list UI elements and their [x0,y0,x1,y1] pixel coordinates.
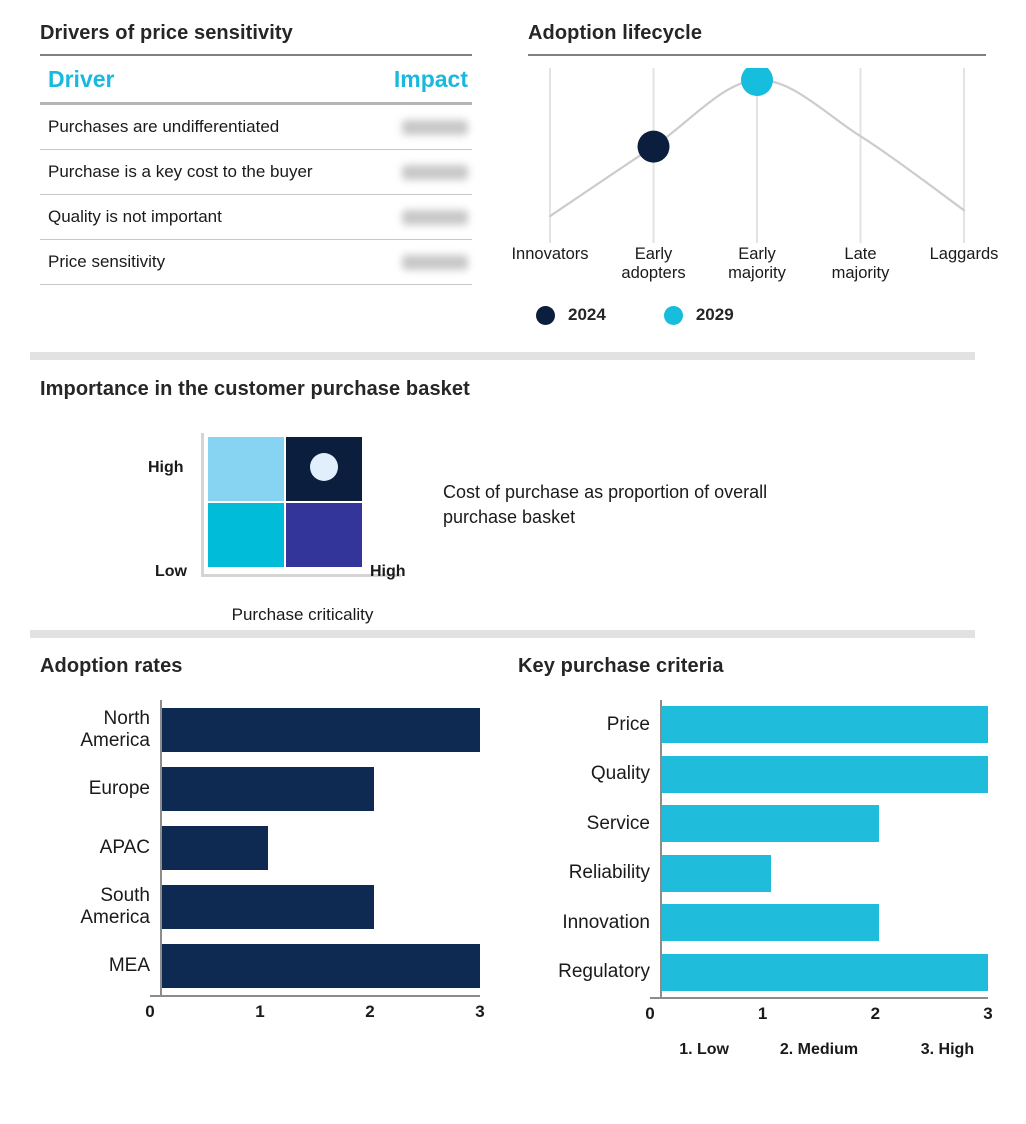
adoption-rates-panel: Adoption rates North AmericaEuropeAPACSo… [40,655,480,1023]
lifecycle-marker-2024[interactable] [638,131,670,163]
table-row: Purchase is a key cost to the buyer [40,150,472,195]
bar-track [160,936,480,995]
bar-track [160,759,480,818]
table-row: Quality is not important [40,195,472,240]
bar-row: Quality [518,750,988,800]
legend-item[interactable]: 2029 [664,305,734,325]
bar-track [660,898,988,948]
axis-tick-label: 0 [145,1002,154,1022]
driver-cell: Purchase is a key cost to the buyer [40,150,256,195]
lifecycle-category-label: Early adopters [621,245,685,283]
lifecycle-category-label: Early majority [728,245,786,283]
criteria-panel-title: Key purchase criteria [518,655,988,678]
axis-tick-label: 1 [758,1004,767,1024]
impact-cell [256,195,472,240]
lifecycle-panel-title: Adoption lifecycle [528,22,986,45]
driver-cell: Purchases are undifferentiated [40,104,256,150]
key-purchase-criteria-panel: Key purchase criteria PriceQualityServic… [518,655,988,1065]
impact-cell [256,104,472,150]
adoption-lifecycle-panel: Adoption lifecycle InnovatorsEarly adopt… [528,22,986,325]
criteria-bar-rows: PriceQualityServiceReliabilityInnovation… [518,700,988,997]
matrix-position-bubble [310,453,338,481]
redacted-value [402,255,468,270]
bar-category-label: APAC [40,837,160,859]
axis-tick-label: 3 [983,1004,992,1024]
column-header-impact: Impact [256,56,472,104]
bar-row: Regulatory [518,948,988,998]
bar-row: APAC [40,818,480,877]
driver-cell: Quality is not important [40,195,256,240]
lifecycle-title-rule [528,54,986,56]
scale-legend-item: 2. Medium [780,1041,858,1059]
bar[interactable] [162,944,480,988]
redacted-value [402,165,468,180]
bar-category-label: Regulatory [518,961,660,983]
legend-dot-icon [536,306,555,325]
adoption-panel-title: Adoption rates [40,655,480,678]
lifecycle-curve-chart [528,68,986,243]
bar-track [660,700,988,750]
bar[interactable] [662,706,988,743]
driver-cell: Price sensitivity [40,240,256,285]
bar-track [160,700,480,759]
matrix-plot-area: High Low High Purchase criticality Cost … [40,423,985,638]
bar-track [660,849,988,899]
redacted-value [402,120,468,135]
lifecycle-svg [528,68,986,243]
axis-tick-label: 0 [645,1004,654,1024]
matrix-quadrants [208,437,362,567]
bar-track [660,750,988,800]
table-row: Price sensitivity [40,240,472,285]
column-header-driver: Driver [40,56,256,104]
lifecycle-legend: 20242029 [528,305,986,325]
lifecycle-category-label: Innovators [511,245,588,264]
criteria-scale-legend: 1. Low2. Medium3. High [650,1041,988,1065]
bar-row: Service [518,799,988,849]
matrix-note-text: Cost of purchase as proportion of overal… [443,480,793,530]
quadrant-bottom-left [208,503,284,567]
bar-row: North America [40,700,480,759]
bar-category-label: South America [40,885,160,929]
criteria-chart-body: PriceQualityServiceReliabilityInnovation… [518,700,988,1065]
redacted-value [402,210,468,225]
matrix-panel-title: Importance in the customer purchase bask… [40,378,985,401]
matrix-y-low-label: Low [155,563,187,581]
bar-category-label: Innovation [518,912,660,934]
matrix-x-axis-title: Purchase criticality [200,605,405,625]
bar[interactable] [662,954,988,991]
quadrant-top-left [208,437,284,501]
drivers-panel-title: Drivers of price sensitivity [40,22,472,45]
bar-row: Innovation [518,898,988,948]
bar-row: Europe [40,759,480,818]
bar[interactable] [162,826,268,870]
matrix-y-axis-line [201,433,204,577]
drivers-of-price-sensitivity-panel: Drivers of price sensitivity Driver Impa… [40,22,472,285]
bar-category-label: Europe [40,778,160,800]
section-divider-2 [30,630,975,638]
bar-row: Reliability [518,849,988,899]
bar-track [660,799,988,849]
adoption-x-tick-labels: 0123 [150,997,480,1023]
matrix-x-high-label: High [370,563,406,581]
drivers-table-header-row: Driver Impact [40,56,472,104]
drivers-table: Driver Impact Purchases are undifferenti… [40,56,472,285]
axis-tick-label: 3 [475,1002,484,1022]
lifecycle-markers [638,68,774,163]
matrix-y-high-label: High [148,459,184,477]
legend-label: 2024 [568,305,606,325]
bar-category-label: Price [518,714,660,736]
bar-row: Price [518,700,988,750]
adoption-chart-body: North AmericaEuropeAPACSouth AmericaMEA … [40,700,480,1023]
lifecycle-marker-2029[interactable] [741,68,773,96]
scale-legend-item: 1. Low [679,1041,729,1059]
bar[interactable] [162,885,374,929]
legend-dot-icon [664,306,683,325]
bar[interactable] [162,767,374,811]
adoption-bar-rows: North AmericaEuropeAPACSouth AmericaMEA [40,700,480,995]
legend-item[interactable]: 2024 [536,305,606,325]
criteria-x-tick-labels: 0123 [650,999,988,1025]
bar[interactable] [662,756,988,793]
bar-category-label: North America [40,708,160,752]
scale-legend-item: 3. High [921,1041,974,1059]
axis-tick-label: 1 [255,1002,264,1022]
legend-label: 2029 [696,305,734,325]
table-row: Purchases are undifferentiated [40,104,472,150]
bar-category-label: Quality [518,763,660,785]
importance-matrix-panel: Importance in the customer purchase bask… [40,378,985,638]
bar[interactable] [662,904,879,941]
bar-category-label: Reliability [518,862,660,884]
lifecycle-category-label: Late majority [832,245,890,283]
quadrant-top-right [286,437,362,501]
section-divider-1 [30,352,975,360]
impact-cell [256,240,472,285]
bar-row: South America [40,877,480,936]
bar-track [160,818,480,877]
bar-category-label: MEA [40,955,160,977]
bar-track [160,877,480,936]
bar[interactable] [662,805,879,842]
bar[interactable] [662,855,771,892]
bar[interactable] [162,708,480,752]
axis-tick-label: 2 [365,1002,374,1022]
lifecycle-category-label: Laggards [930,245,999,264]
bar-row: MEA [40,936,480,995]
lifecycle-category-labels: InnovatorsEarly adoptersEarly majorityLa… [528,245,986,299]
quadrant-bottom-right [286,503,362,567]
bar-track [660,948,988,998]
axis-tick-label: 2 [871,1004,880,1024]
bar-category-label: Service [518,813,660,835]
